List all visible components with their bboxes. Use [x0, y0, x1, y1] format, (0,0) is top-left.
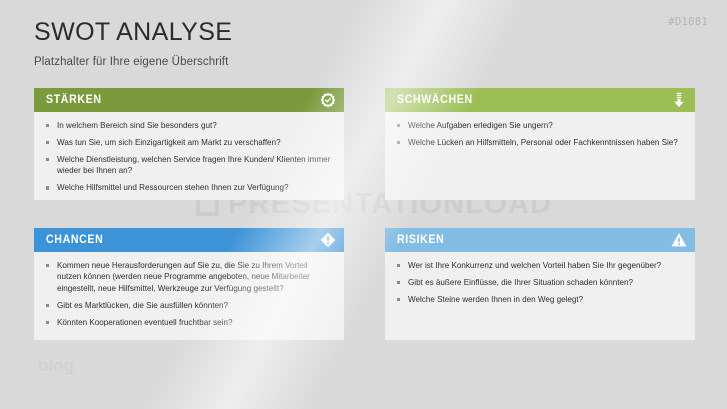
quadrant-header-risks: RISIKEN [385, 228, 695, 252]
list-item: Welche Steine werden Ihnen in den Weg ge… [397, 294, 683, 305]
quadrant-title-risks: RISIKEN [397, 234, 444, 246]
quadrant-weaknesses: SCHWÄCHENWelche Aufgaben erledigen Sie u… [385, 88, 695, 200]
quadrant-body-risks: Wer ist Ihre Konkurrenz und welchen Vort… [385, 252, 695, 340]
list-item: Könnten Kooperationen eventuell fruchtba… [46, 317, 332, 328]
quadrant-header-opportunities: CHANCEN [34, 228, 344, 252]
arrow-down-icon [671, 92, 687, 108]
swot-quadrant-grid: STÄRKENIn welchem Bereich sind Sie beson… [34, 88, 695, 340]
quadrant-body-opportunities: Kommen neue Herausforderungen auf Sie zu… [34, 252, 344, 340]
list-item: Welche Lücken an Hilfsmitteln, Personal … [397, 137, 683, 148]
slide-header: SWOT ANALYSE Platzhalter für Ihre eigene… [34, 19, 232, 68]
question-list-weaknesses: Welche Aufgaben erledigen Sie ungern?Wel… [397, 120, 683, 148]
list-item: Welche Hilfsmittel und Ressourcen stehen… [46, 182, 332, 193]
quadrant-title-strengths: STÄRKEN [46, 94, 102, 106]
quadrant-body-weaknesses: Welche Aufgaben erledigen Sie ungern?Wel… [385, 112, 695, 200]
diamond-info-icon [320, 232, 336, 248]
list-item: Welche Aufgaben erledigen Sie ungern? [397, 120, 683, 131]
quadrant-title-opportunities: CHANCEN [46, 234, 103, 246]
swot-slide: PRESENTATIONLOAD blog SWOT ANALYSE Platz… [0, 0, 727, 409]
quadrant-header-strengths: STÄRKEN [34, 88, 344, 112]
blog-watermark: blog [38, 356, 74, 376]
quadrant-opportunities: CHANCENKommen neue Herausforderungen auf… [34, 228, 344, 340]
quadrant-title-weaknesses: SCHWÄCHEN [397, 94, 473, 106]
page-subtitle: Platzhalter für Ihre eigene Überschrift [34, 56, 232, 68]
quadrant-body-strengths: In welchem Bereich sind Sie besonders gu… [34, 112, 344, 200]
quadrant-risks: RISIKENWer ist Ihre Konkurrenz und welch… [385, 228, 695, 340]
list-item: Wer ist Ihre Konkurrenz und welchen Vort… [397, 260, 683, 271]
page-title: SWOT ANALYSE [34, 19, 232, 47]
list-item: Gibt es äußere Einflüsse, die Ihrer Situ… [397, 277, 683, 288]
list-item: Welche Dienstleistung, welchen Service f… [46, 154, 332, 177]
document-id: #D1081 [668, 16, 708, 28]
list-item: Gibt es Marktlücken, die Sie ausfüllen k… [46, 300, 332, 311]
question-list-opportunities: Kommen neue Herausforderungen auf Sie zu… [46, 260, 332, 328]
list-item: In welchem Bereich sind Sie besonders gu… [46, 120, 332, 131]
list-item: Kommen neue Herausforderungen auf Sie zu… [46, 260, 332, 294]
question-list-strengths: In welchem Bereich sind Sie besonders gu… [46, 120, 332, 194]
list-item: Was tun Sie, um sich Einzigartigkeit am … [46, 137, 332, 148]
quadrant-strengths: STÄRKENIn welchem Bereich sind Sie beson… [34, 88, 344, 200]
quadrant-header-weaknesses: SCHWÄCHEN [385, 88, 695, 112]
check-badge-icon [320, 92, 336, 108]
warning-triangle-icon [671, 232, 687, 248]
question-list-risks: Wer ist Ihre Konkurrenz und welchen Vort… [397, 260, 683, 305]
